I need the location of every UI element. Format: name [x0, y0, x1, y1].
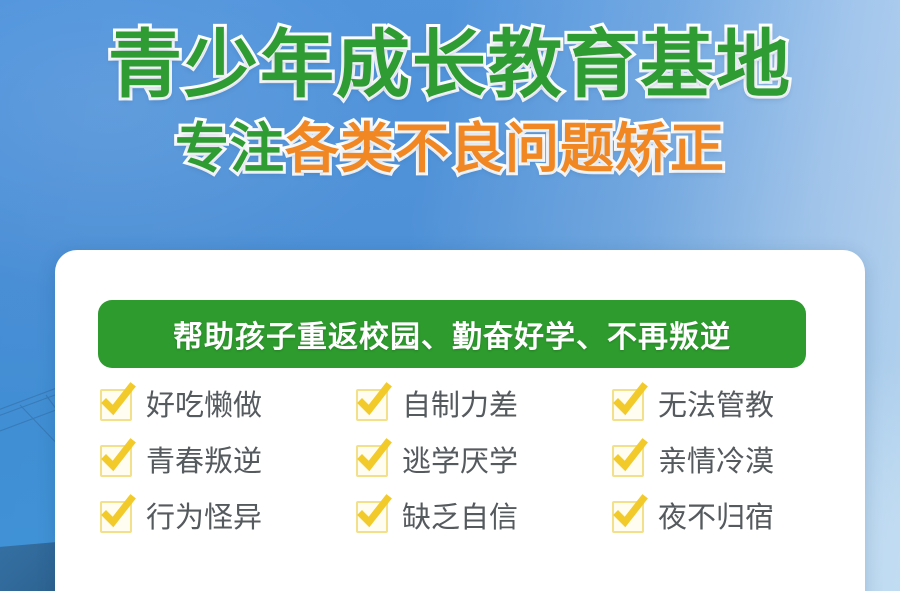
checklist-item-label: 无法管教	[658, 388, 774, 422]
checklist-item-xingweiguaiyi[interactable]: 行为怪异	[100, 500, 356, 534]
promo-poster: 青少年成长教育基地 专注各类不良问题矫正 帮助孩子重返校园、勤奋好学、不再叛逆 …	[0, 0, 900, 591]
content-card: 帮助孩子重返校园、勤奋好学、不再叛逆 好吃懒做	[55, 250, 865, 591]
checklist-item-qinqinglengmo[interactable]: 亲情冷漠	[612, 444, 774, 478]
headline: 青少年成长教育基地 专注各类不良问题矫正	[0, 24, 900, 180]
subtitle-emphasis-green: 专注	[175, 117, 285, 180]
check-icon[interactable]	[100, 389, 132, 421]
promise-banner-text: 帮助孩子重返校园、勤奋好学、不再叛逆	[173, 312, 731, 356]
check-icon[interactable]	[612, 389, 644, 421]
checklist-item-label: 青春叛逆	[146, 444, 262, 478]
checklist-item-quefazixin[interactable]: 缺乏自信	[356, 500, 612, 534]
check-icon[interactable]	[612, 501, 644, 533]
checklist-item-taoxueyanxue[interactable]: 逃学厌学	[356, 444, 612, 478]
checklist-item-qingchunpanni[interactable]: 青春叛逆	[100, 444, 356, 478]
checklist-item-wufaguanjiao[interactable]: 无法管教	[612, 388, 774, 422]
problem-checklist: 好吃懒做 自制力差 无法管教	[100, 388, 822, 534]
page-subtitle: 专注各类不良问题矫正	[0, 118, 900, 180]
checklist-item-yebuguisu[interactable]: 夜不归宿	[612, 500, 774, 534]
check-icon[interactable]	[100, 445, 132, 477]
checklist-item-zizhilicha[interactable]: 自制力差	[356, 388, 612, 422]
checklist-row: 好吃懒做 自制力差 无法管教	[100, 388, 822, 422]
checklist-item-haochilanzuo[interactable]: 好吃懒做	[100, 388, 356, 422]
subtitle-emphasis-orange: 各类不良问题矫正	[285, 117, 725, 180]
check-icon[interactable]	[356, 501, 388, 533]
check-icon[interactable]	[612, 445, 644, 477]
checklist-item-label: 夜不归宿	[658, 500, 774, 534]
checklist-item-label: 自制力差	[402, 388, 518, 422]
checklist-row: 行为怪异 缺乏自信 夜不归宿	[100, 500, 822, 534]
checklist-item-label: 行为怪异	[146, 500, 262, 534]
check-icon[interactable]	[356, 445, 388, 477]
check-icon[interactable]	[100, 501, 132, 533]
check-icon[interactable]	[356, 389, 388, 421]
page-title: 青少年成长教育基地	[0, 24, 900, 106]
checklist-item-label: 亲情冷漠	[658, 444, 774, 478]
promise-banner: 帮助孩子重返校园、勤奋好学、不再叛逆	[98, 300, 806, 368]
checklist-item-label: 缺乏自信	[402, 500, 518, 534]
checklist-item-label: 好吃懒做	[146, 388, 262, 422]
checklist-item-label: 逃学厌学	[402, 444, 518, 478]
checklist-row: 青春叛逆 逃学厌学 亲情冷漠	[100, 444, 822, 478]
